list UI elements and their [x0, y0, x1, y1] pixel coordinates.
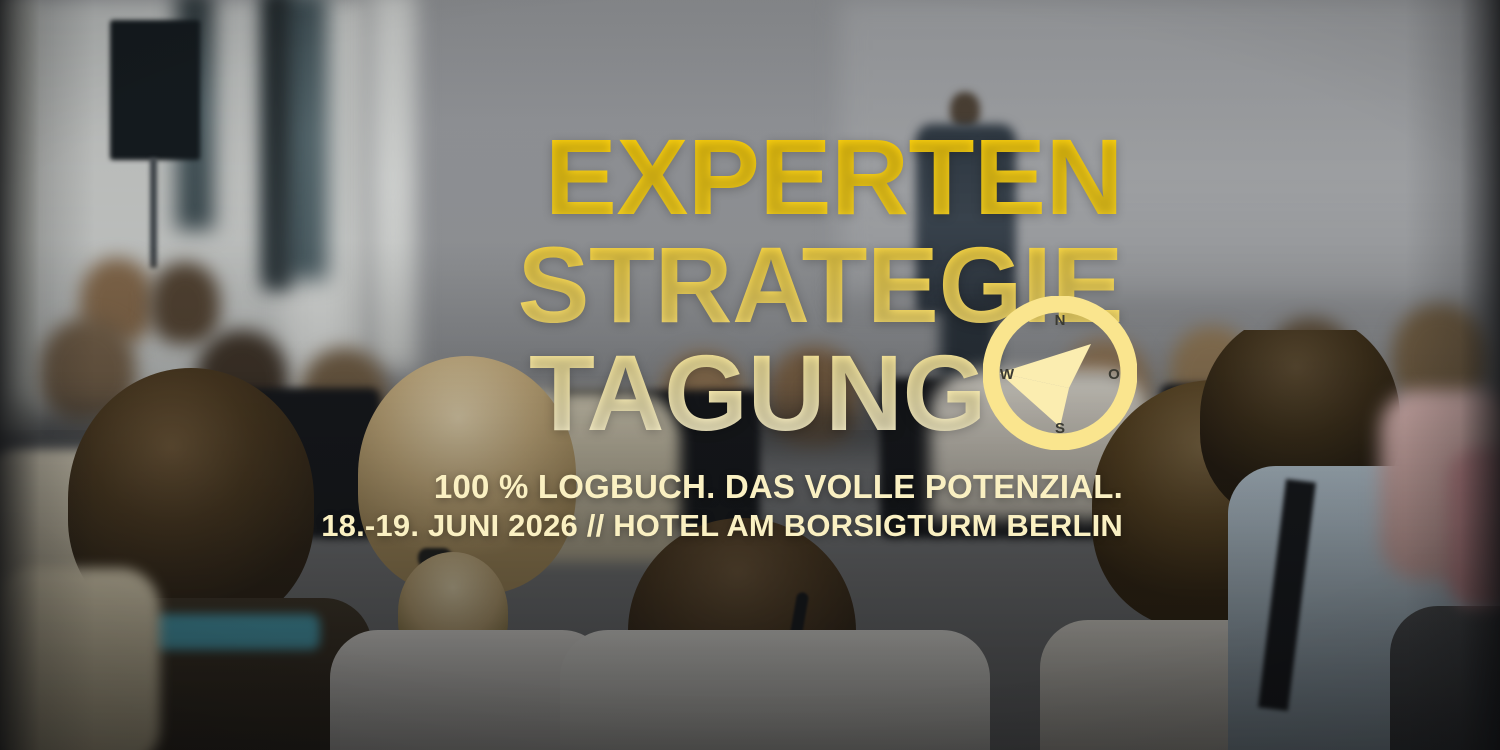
audience-clothing	[1448, 448, 1500, 608]
audience-collar	[150, 614, 320, 650]
event-key-visual-banner: EXPERTEN STRATEGIE TAGUNG 100 % LOGBUCH.…	[0, 0, 1500, 750]
presenter-torso	[916, 124, 1016, 314]
pa-speaker-box	[110, 20, 200, 160]
foreground-audience	[0, 330, 1500, 750]
dark-column-edge	[262, 0, 290, 290]
pa-speaker-stand	[150, 158, 157, 268]
background-photo	[0, 0, 1500, 750]
wall-pillar	[370, 0, 416, 370]
presenter-head	[950, 92, 980, 128]
audience-body-front	[560, 630, 990, 750]
audience-body-front	[1390, 606, 1500, 750]
audience-clothing	[0, 568, 160, 750]
